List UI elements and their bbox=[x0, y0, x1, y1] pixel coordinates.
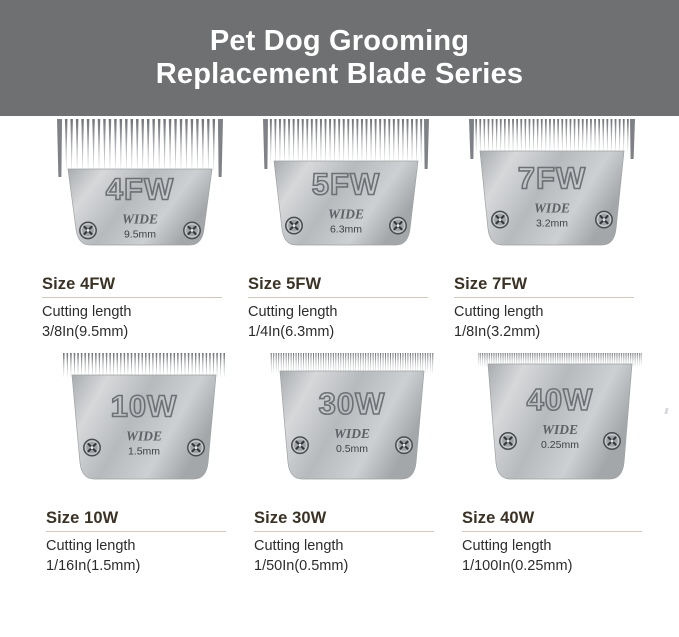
product-title: Size 10W bbox=[46, 509, 242, 528]
product-title: Size 4FW bbox=[42, 275, 238, 294]
title-underline bbox=[454, 297, 634, 298]
title-underline bbox=[254, 531, 434, 532]
svg-text:1.5mm: 1.5mm bbox=[128, 446, 160, 458]
product-caption: Size 5FW Cutting length 1/4In(6.3mm) bbox=[248, 266, 444, 342]
product-card-10w[interactable]: 10W WIDE 1.5mm Size 10W Cutting length 1… bbox=[46, 360, 242, 576]
page-header-banner: Pet Dog Grooming Replacement Blade Serie… bbox=[0, 0, 679, 116]
product-card-7fw[interactable]: 7FW WIDE 3.2mm Size 7FW Cutting length 1… bbox=[454, 116, 650, 342]
title-underline bbox=[462, 531, 642, 532]
product-card-40w[interactable]: 40W WIDE 0.25mm Size 40W Cutting length … bbox=[462, 360, 658, 576]
svg-text:7FW: 7FW bbox=[518, 161, 586, 196]
title-underline bbox=[42, 297, 222, 298]
product-caption: Size 7FW Cutting length 1/8In(3.2mm) bbox=[454, 266, 650, 342]
product-desc-line-1: Cutting length bbox=[462, 537, 658, 557]
svg-text:9.5mm: 9.5mm bbox=[124, 228, 156, 240]
product-card-5fw[interactable]: 5FW WIDE 6.3mm Size 5FW Cutting length 1… bbox=[248, 116, 444, 342]
svg-text:WIDE: WIDE bbox=[328, 207, 364, 222]
svg-text:10W: 10W bbox=[111, 389, 178, 424]
product-desc-line-2: 3/8In(9.5mm) bbox=[42, 323, 238, 343]
product-desc-line-1: Cutting length bbox=[454, 303, 650, 323]
page-title-line-1: Pet Dog Grooming bbox=[210, 25, 469, 58]
blade-image-10w: 10W WIDE 1.5mm bbox=[46, 360, 242, 500]
blade-image-30w: 30W WIDE 0.5mm bbox=[254, 360, 450, 500]
svg-text:30W: 30W bbox=[319, 386, 386, 421]
blade-image-40w: 40W WIDE 0.25mm bbox=[462, 360, 658, 500]
product-desc-line-1: Cutting length bbox=[46, 537, 242, 557]
product-card-30w[interactable]: 30W WIDE 0.5mm Size 30W Cutting length 1… bbox=[254, 360, 450, 576]
product-desc-line-1: Cutting length bbox=[248, 303, 444, 323]
svg-text:WIDE: WIDE bbox=[542, 422, 578, 437]
svg-text:WIDE: WIDE bbox=[334, 426, 370, 441]
product-desc-line-2: 1/16In(1.5mm) bbox=[46, 557, 242, 577]
product-desc-line-2: 1/100In(0.25mm) bbox=[462, 557, 658, 577]
title-underline bbox=[248, 297, 428, 298]
svg-text:0.25mm: 0.25mm bbox=[541, 439, 579, 451]
product-card-4fw[interactable]: 4FW WIDE 9.5mm Size 4FW Cutting length 3… bbox=[42, 116, 238, 342]
product-desc-line-2: 1/50In(0.5mm) bbox=[254, 557, 450, 577]
product-caption: Size 40W Cutting length 1/100In(0.25mm) bbox=[462, 500, 658, 576]
title-underline bbox=[46, 531, 226, 532]
product-caption: Size 4FW Cutting length 3/8In(9.5mm) bbox=[42, 266, 238, 342]
svg-text:0.5mm: 0.5mm bbox=[336, 443, 368, 455]
svg-text:4FW: 4FW bbox=[106, 171, 174, 206]
svg-text:WIDE: WIDE bbox=[534, 201, 570, 216]
product-desc-line-1: Cutting length bbox=[254, 537, 450, 557]
product-desc-line-2: 1/8In(3.2mm) bbox=[454, 323, 650, 343]
product-title: Size 30W bbox=[254, 509, 450, 528]
product-row-bottom: 10W WIDE 1.5mm Size 10W Cutting length 1… bbox=[0, 360, 679, 576]
page-title-line-2: Replacement Blade Series bbox=[156, 58, 523, 91]
product-title: Size 40W bbox=[462, 509, 658, 528]
blade-image-7fw: 7FW WIDE 3.2mm bbox=[454, 116, 650, 266]
svg-text:6.3mm: 6.3mm bbox=[330, 224, 362, 236]
blade-image-4fw: 4FW WIDE 9.5mm bbox=[42, 116, 238, 266]
svg-text:WIDE: WIDE bbox=[126, 429, 162, 444]
product-title: Size 7FW bbox=[454, 275, 650, 294]
product-row-top: 4FW WIDE 9.5mm Size 4FW Cutting length 3… bbox=[0, 116, 679, 342]
svg-text:WIDE: WIDE bbox=[122, 211, 158, 226]
svg-text:3.2mm: 3.2mm bbox=[536, 218, 568, 230]
product-caption: Size 10W Cutting length 1/16In(1.5mm) bbox=[46, 500, 242, 576]
product-desc-line-1: Cutting length bbox=[42, 303, 238, 323]
svg-text:5FW: 5FW bbox=[312, 167, 380, 202]
product-desc-line-2: 1/4In(6.3mm) bbox=[248, 323, 444, 343]
svg-text:40W: 40W bbox=[527, 382, 594, 417]
product-title: Size 5FW bbox=[248, 275, 444, 294]
product-grid: 4FW WIDE 9.5mm Size 4FW Cutting length 3… bbox=[0, 116, 679, 576]
blade-image-5fw: 5FW WIDE 6.3mm bbox=[248, 116, 444, 266]
product-caption: Size 30W Cutting length 1/50In(0.5mm) bbox=[254, 500, 450, 576]
